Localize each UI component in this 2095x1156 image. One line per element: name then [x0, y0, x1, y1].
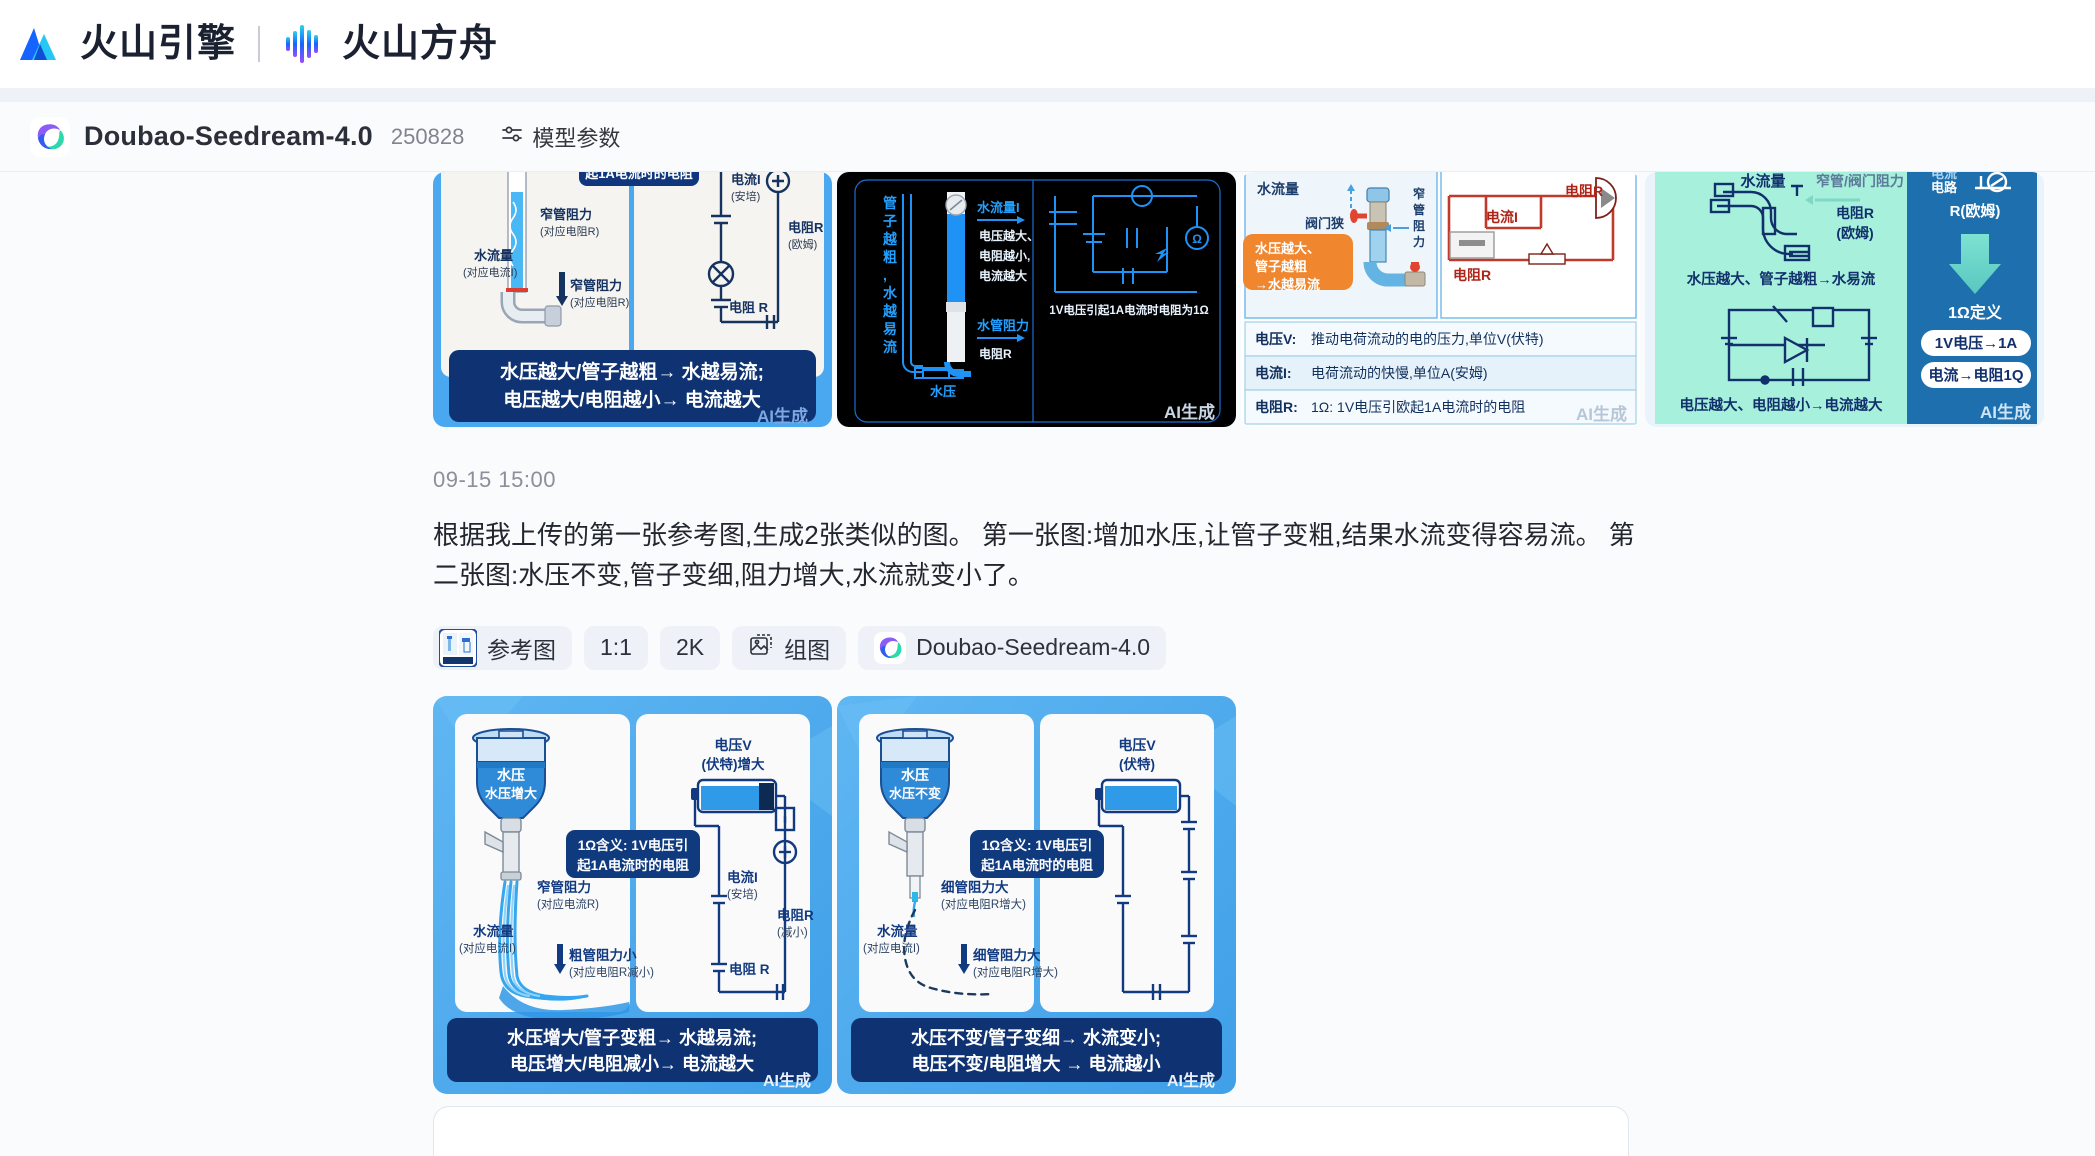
resolution-chip[interactable]: 2K: [660, 626, 720, 670]
svg-text:粗管阻力小: 粗管阻力小: [569, 947, 637, 963]
svg-text:(伏特): (伏特): [1119, 756, 1155, 772]
top-brand-bar: 火山引擎 火山方舟: [0, 0, 2095, 88]
svg-text:起1A电流时的电阻: 起1A电流时的电阻: [980, 857, 1093, 873]
svg-text:细管阻力大: 细管阻力大: [973, 947, 1041, 963]
svg-text:(对应电流R): (对应电流R): [537, 897, 599, 911]
svg-text:AI生成: AI生成: [1164, 402, 1215, 422]
svg-text:电路: 电路: [1931, 180, 1958, 195]
svg-text:电压越大/电阻越小→ 电流越大: 电压越大/电阻越小→ 电流越大: [503, 388, 761, 411]
svg-text:1V电压→1A: 1V电压→1A: [1935, 334, 2018, 352]
svg-text:水流量: 水流量: [1740, 172, 1785, 190]
svg-text:电流I: 电流I: [731, 172, 761, 187]
generated-image-2[interactable]: 水压 水压不变 1Ω含义: 1V电压引 起1A电流时的电阻 细管阻力大: [837, 696, 1236, 1094]
svg-text:→水越易流: →水越易流: [1255, 277, 1320, 292]
svg-text:(欧姆): (欧姆): [788, 237, 817, 251]
svg-text:电阻R: 电阻R: [1565, 183, 1603, 199]
svg-text:AI生成: AI生成: [763, 1071, 811, 1090]
svg-text:管: 管: [883, 195, 897, 211]
svg-text:AI生成: AI生成: [757, 406, 808, 426]
svg-text:电阻R: 电阻R: [777, 907, 814, 923]
svg-text:水压越大、: 水压越大、: [1255, 241, 1320, 256]
svg-text:水: 水: [883, 285, 898, 301]
model-title: Doubao-Seedream-4.0: [84, 121, 373, 152]
previous-image-2[interactable]: 管子越 粗,水 越易流: [837, 172, 1236, 427]
sliders-icon: [500, 122, 524, 151]
model-params-label: 模型参数: [532, 121, 620, 153]
svg-text:电流越大: 电流越大: [979, 268, 1027, 283]
svg-text:窄: 窄: [1413, 186, 1425, 201]
user-message: 09-15 15:00 根据我上传的第一张参考图,生成2张类似的图。 第一张图:…: [0, 427, 1640, 670]
svg-text:水压增大: 水压增大: [485, 786, 537, 801]
conversation-scroll-area[interactable]: 起1A电流时的电阻 窄管阻力 (对应电阻R) 水流量 (对应电流I) 窄管阻力 …: [0, 172, 2095, 1156]
svg-text:窄管阻力: 窄管阻力: [537, 879, 591, 895]
prompt-text: 根据我上传的第一张参考图,生成2张类似的图。 第一张图:增加水压,让管子变粗,结…: [433, 515, 1640, 596]
svg-text:AI生成: AI生成: [1980, 402, 2031, 422]
svg-text:子: 子: [883, 213, 897, 229]
svg-text:1V电压引起1A电流时电阻为1Ω: 1V电压引起1A电流时电阻为1Ω: [1049, 303, 1208, 317]
svg-text:管子越粗: 管子越粗: [1255, 259, 1307, 274]
svg-text:水压不变/管子变细→ 水流变小;: 水压不变/管子变细→ 水流变小;: [911, 1027, 1161, 1048]
svg-text:(对应电流I): (对应电流I): [463, 265, 517, 279]
brand-name-secondary: 火山方舟: [342, 25, 498, 63]
svg-text:水流量: 水流量: [474, 248, 513, 263]
model-chip[interactable]: Doubao-Seedream-4.0: [858, 626, 1166, 670]
model-params-button[interactable]: 模型参数: [500, 121, 620, 153]
svg-text:电阻R: 电阻R: [979, 346, 1012, 361]
svg-text:力: 力: [1413, 234, 1425, 249]
svg-text:Ω: Ω: [1192, 232, 1202, 246]
svg-text:水压不变: 水压不变: [889, 786, 941, 801]
svg-text:窄管阻力: 窄管阻力: [570, 278, 622, 293]
svg-text:(对应电阻R): (对应电阻R): [570, 295, 629, 309]
svg-text:电阻R: 电阻R: [1836, 205, 1874, 221]
reference-image-chip[interactable]: 参考图: [433, 626, 572, 670]
doubao-seed-icon: [874, 632, 906, 664]
svg-text:水压: 水压: [930, 384, 956, 399]
svg-text:水压: 水压: [901, 767, 929, 783]
brand-name: 火山引擎: [80, 25, 236, 63]
svg-text:水压越大/管子越粗→ 水越易流;: 水压越大/管子越粗→ 水越易流;: [500, 360, 764, 383]
generated-results-row: 水压 水压增大 1: [0, 696, 2095, 1094]
model-header: Doubao-Seedream-4.0 250828 模型参数: [0, 102, 2095, 172]
svg-text:(欧姆): (欧姆): [1836, 225, 1873, 241]
group-image-chip[interactable]: 组图: [732, 626, 846, 670]
svg-text:(减小): (减小): [777, 926, 808, 939]
svg-text:电阻R: 电阻R: [788, 220, 824, 235]
svg-text:(伏特)增大: (伏特)增大: [702, 756, 765, 772]
model-chip-label: Doubao-Seedream-4.0: [916, 634, 1150, 661]
svg-text:1Ω: 1V电压引欧起1A电流时的电阻: 1Ω: 1V电压引欧起1A电流时的电阻: [1311, 399, 1525, 415]
svg-text:电荷流动的快慢,单位A(安姆): 电荷流动的快慢,单位A(安姆): [1311, 365, 1488, 381]
generation-settings-chips: 参考图 1:1 2K 组图: [433, 626, 1640, 670]
svg-text:水压增大/管子变粗→ 水越易流;: 水压增大/管子变粗→ 水越易流;: [507, 1027, 757, 1048]
svg-text:起1A电流时的电阻: 起1A电流时的电阻: [584, 172, 693, 181]
svg-text:电压增大/电阻减小→ 电流越大: 电压增大/电阻减小→ 电流越大: [510, 1053, 754, 1074]
svg-text:阀门狭: 阀门狭: [1305, 216, 1345, 231]
brand-divider: [258, 26, 260, 62]
model-version: 250828: [391, 124, 464, 150]
svg-text:电流→电阻1Q: 电流→电阻1Q: [1928, 366, 2023, 384]
svg-text:电压V: 电压V: [714, 737, 752, 753]
svg-text:水管阻力: 水管阻力: [977, 318, 1029, 333]
svg-text:1Ω定义: 1Ω定义: [1948, 303, 2002, 322]
reference-thumbnail-icon: [439, 629, 477, 667]
svg-text:水压: 水压: [497, 767, 525, 783]
svg-text:(对应电流I): (对应电流I): [459, 941, 516, 955]
reference-image-label: 参考图: [487, 631, 556, 665]
message-timestamp: 09-15 15:00: [433, 467, 1640, 493]
svg-text:细管阻力大: 细管阻力大: [941, 879, 1009, 895]
svg-text:推动电荷流动的电的压力,单位V(伏特): 推动电荷流动的电的压力,单位V(伏特): [1311, 331, 1544, 347]
svg-text:电流I: 电流I: [1486, 209, 1518, 225]
doubao-seed-icon: [30, 117, 70, 157]
svg-text:(对应电流I): (对应电流I): [863, 941, 920, 955]
generated-image-1[interactable]: 水压 水压增大 1: [433, 696, 832, 1094]
prompt-composer[interactable]: [433, 1106, 1629, 1156]
aspect-ratio-chip[interactable]: 1:1: [584, 626, 648, 670]
group-image-icon: [748, 632, 774, 664]
svg-text:阻: 阻: [1413, 218, 1425, 233]
svg-text:(对应电阻R): (对应电阻R): [540, 224, 599, 238]
svg-text:电流I: 电流I: [727, 869, 758, 885]
svg-text:越: 越: [882, 231, 898, 247]
svg-text:水流量: 水流量: [1257, 181, 1299, 197]
svg-text:粗: 粗: [883, 249, 897, 265]
svg-text:AI生成: AI生成: [1167, 1071, 1215, 1090]
header-divider-band: [0, 88, 2095, 102]
svg-text:电阻R: 电阻R: [1453, 267, 1491, 283]
svg-text:窄管/阀门阻力: 窄管/阀门阻力: [1816, 173, 1904, 189]
svg-text:电阻 R: 电阻 R: [729, 961, 770, 977]
svg-text:电压V: 电压V: [1118, 737, 1156, 753]
svg-text:AI生成: AI生成: [1576, 404, 1627, 424]
svg-text:水压越大、管子越粗→水易流: 水压越大、管子越粗→水易流: [1687, 270, 1876, 288]
aspect-ratio-label: 1:1: [600, 634, 632, 661]
previous-image-3[interactable]: 水流量 阀门狭 窄管阻力: [1241, 172, 1640, 427]
svg-text:易: 易: [883, 321, 897, 337]
svg-text:流: 流: [883, 339, 897, 355]
svg-text:(对应电阻R增大): (对应电阻R增大): [941, 897, 1026, 911]
svg-text:R(欧姆): R(欧姆): [1950, 202, 2001, 220]
volcano-mountain-icon: [14, 18, 66, 70]
previous-results-row: 起1A电流时的电阻 窄管阻力 (对应电阻R) 水流量 (对应电流I) 窄管阻力 …: [0, 172, 2095, 427]
svg-text:1Ω含义: 1V电压引: 1Ω含义: 1V电压引: [578, 837, 689, 853]
svg-text:,: ,: [883, 267, 887, 283]
svg-text:(对应电阻R减小): (对应电阻R减小): [569, 965, 654, 979]
resolution-label: 2K: [676, 634, 704, 661]
svg-text:电压不变/电阻增大 → 电流越小: 电压不变/电阻增大 → 电流越小: [911, 1053, 1160, 1074]
svg-text:1Ω含义: 1V电压引: 1Ω含义: 1V电压引: [982, 837, 1093, 853]
svg-text:电阻越小,: 电阻越小,: [979, 248, 1030, 263]
svg-text:电压越大、: 电压越大、: [979, 228, 1039, 243]
svg-text:(对应电阻R增大): (对应电阻R增大): [973, 965, 1058, 979]
audio-wave-icon: [282, 21, 328, 67]
svg-text:水流量: 水流量: [877, 923, 918, 939]
svg-text:越: 越: [882, 303, 898, 319]
svg-text:电阻 R: 电阻 R: [729, 300, 769, 315]
svg-text:起1A电流时的电阻: 起1A电流时的电阻: [576, 857, 689, 873]
svg-text:管: 管: [1413, 202, 1425, 217]
previous-image-4[interactable]: 水流量 窄管/阀门阻力 电阻R (欧姆) 水压越大、管子越粗→水易流: [1645, 172, 2044, 427]
composer-peek: [433, 1106, 2095, 1156]
svg-text:水流量: 水流量: [473, 923, 514, 939]
svg-text:电流I:: 电流I:: [1255, 365, 1292, 381]
svg-text:水流量I: 水流量I: [977, 200, 1020, 215]
svg-text:电压V:: 电压V:: [1255, 331, 1296, 347]
group-image-label: 组图: [784, 631, 830, 665]
previous-image-1[interactable]: 起1A电流时的电阻 窄管阻力 (对应电阻R) 水流量 (对应电流I) 窄管阻力 …: [433, 172, 832, 427]
svg-text:(安培): (安培): [731, 189, 760, 203]
svg-text:电阻R:: 电阻R:: [1255, 399, 1298, 415]
svg-text:电压越大、电阻越小→电流越大: 电压越大、电阻越小→电流越大: [1680, 396, 1883, 414]
svg-text:窄管阻力: 窄管阻力: [540, 207, 592, 222]
svg-text:(安培): (安培): [727, 887, 758, 901]
